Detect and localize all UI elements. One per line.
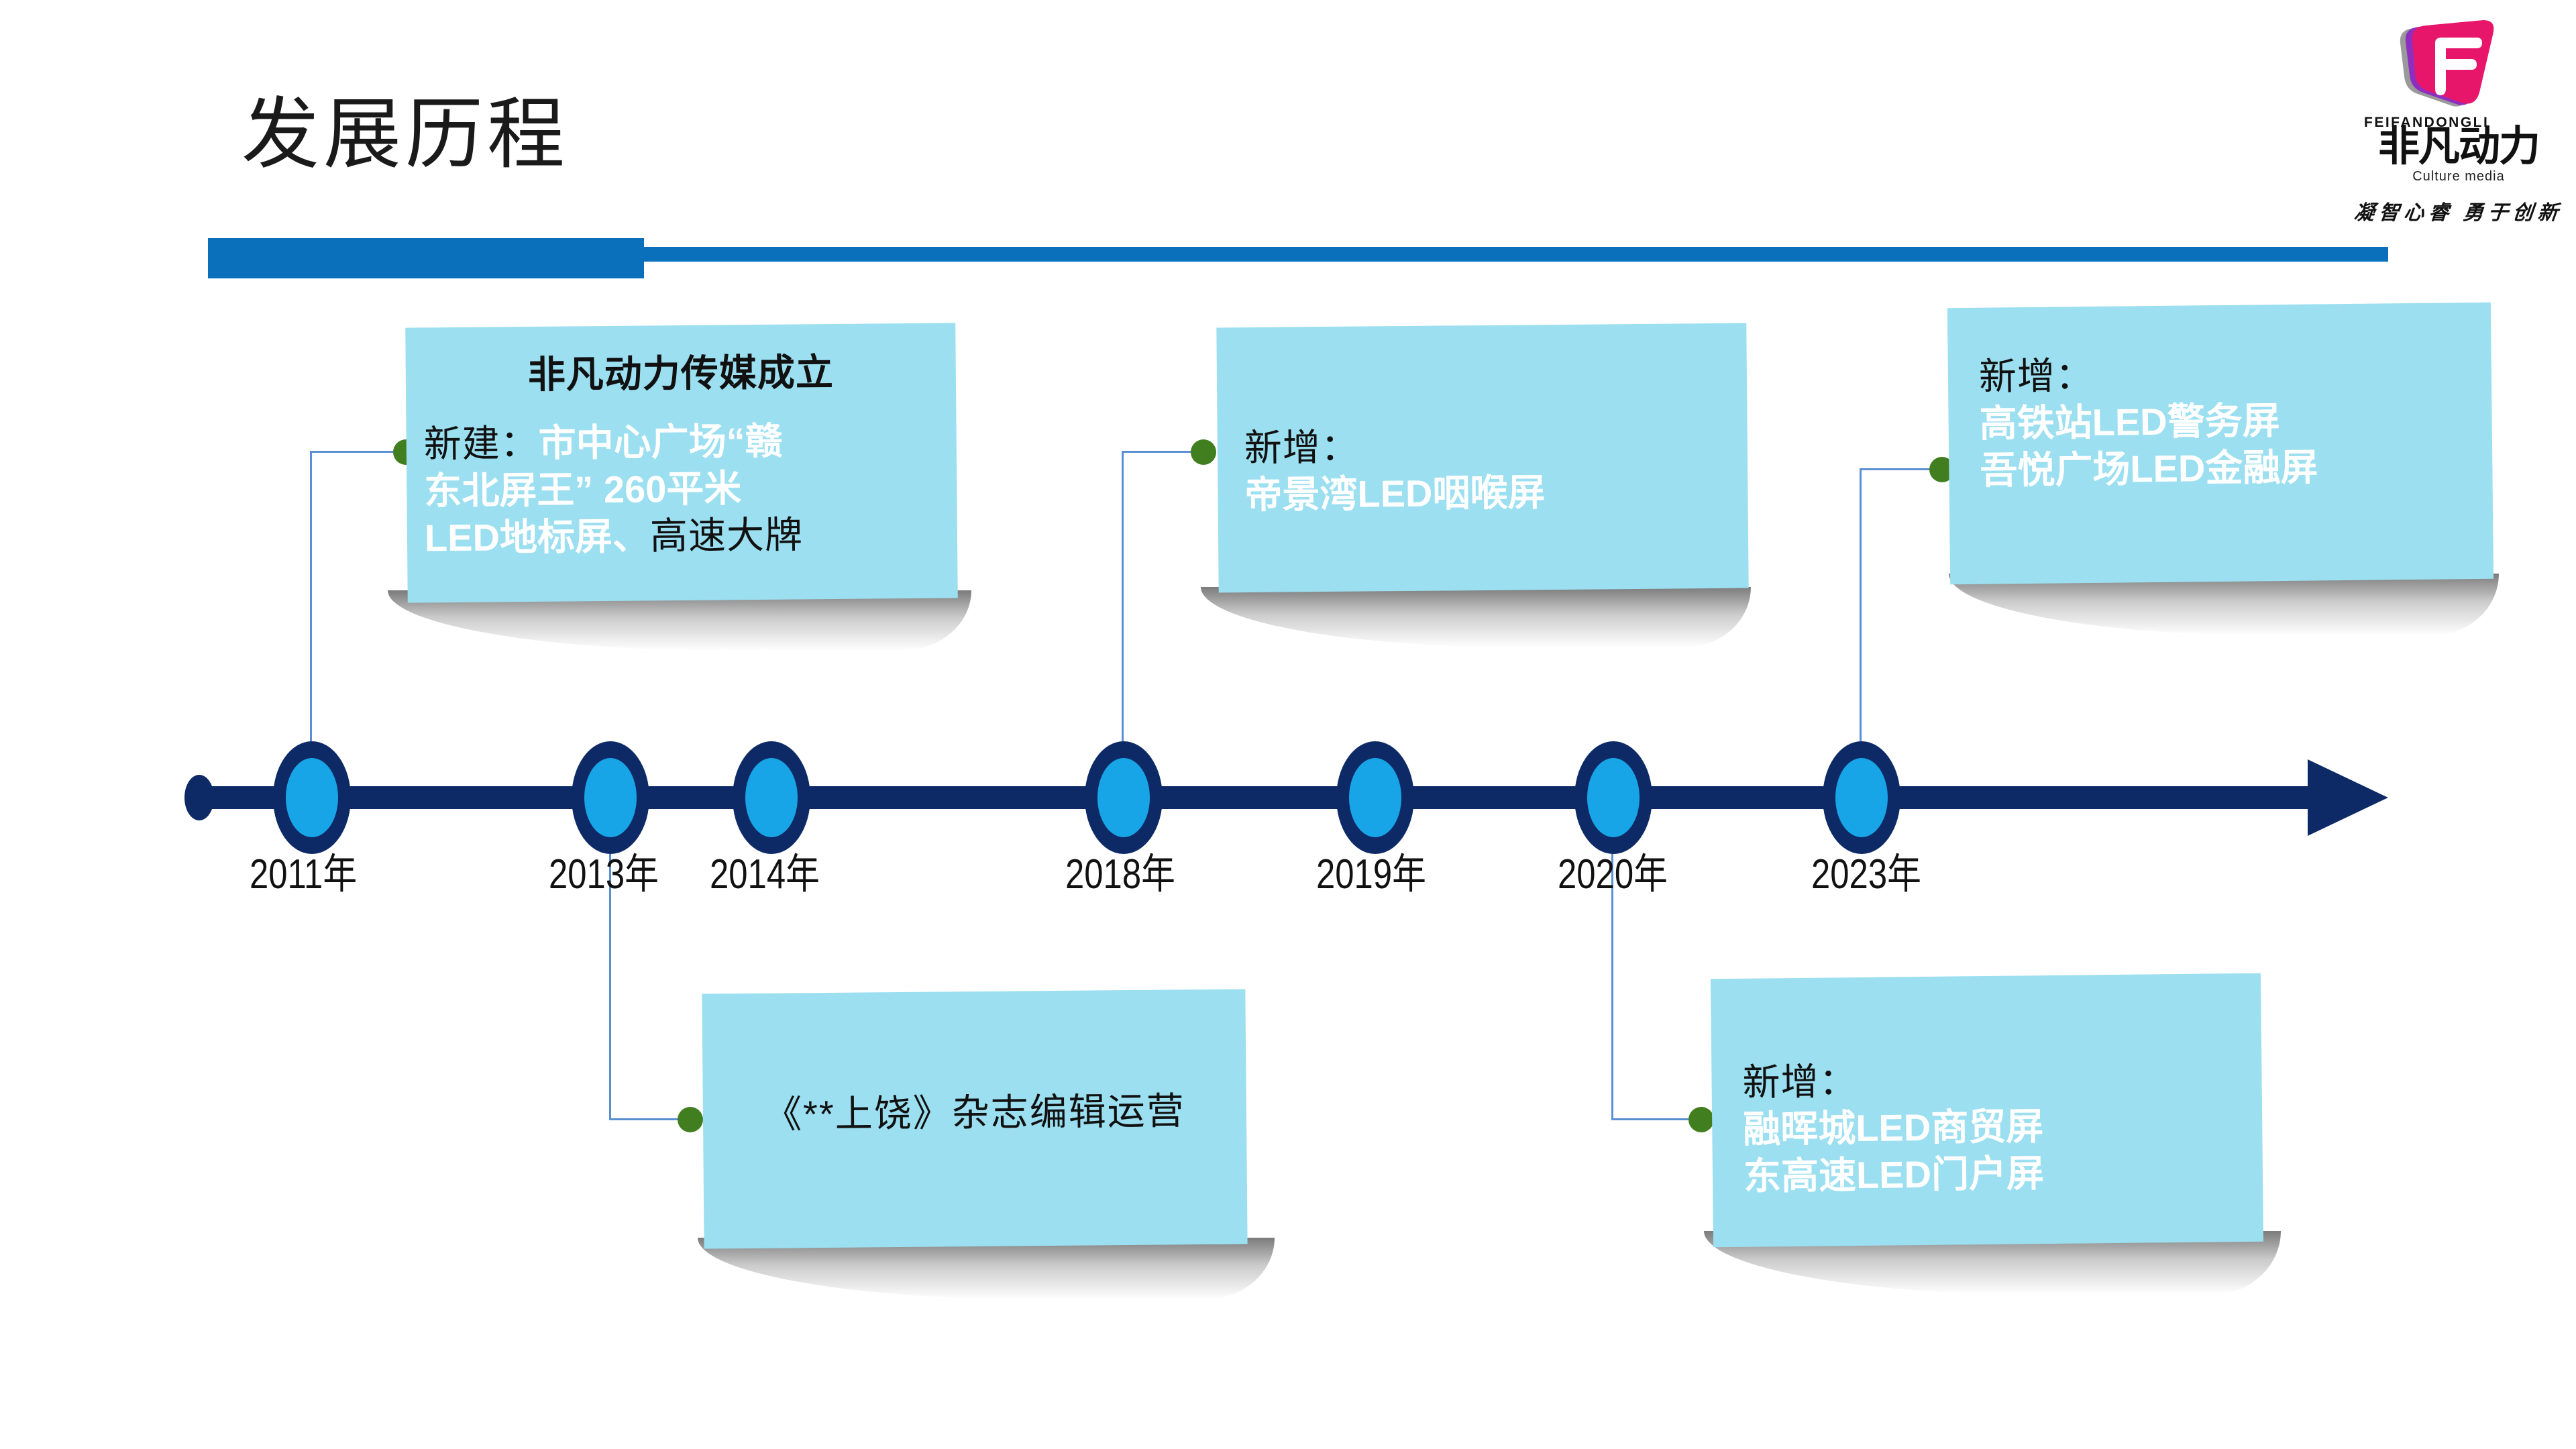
timeline-start-dot bbox=[184, 775, 214, 820]
card-2023-lead: 新增： bbox=[1979, 348, 2461, 400]
card-2020-highlight-1: 融晖城LED商贸屏 bbox=[1743, 1101, 2232, 1153]
card-2020[interactable]: 新增： 融晖城LED商贸屏 东高速LED门户屏 bbox=[1711, 973, 2263, 1248]
card-2018[interactable]: 新增： 帝景湾LED咽喉屏 bbox=[1216, 323, 1748, 593]
timeline-node-2013[interactable] bbox=[572, 741, 649, 854]
timeline-node-2018[interactable] bbox=[1085, 741, 1163, 854]
card-2023-highlight-1: 高铁站LED警务屏 bbox=[1979, 395, 2461, 447]
card-2023[interactable]: 新增： 高铁站LED警务屏 吾悦广场LED金融屏 bbox=[1947, 303, 2493, 584]
card-2011-highlight-3: LED地标屏、 bbox=[425, 515, 651, 559]
card-2013-content: 《**上饶》杂志编辑运营 bbox=[703, 1086, 1247, 1140]
card-2023-content: 新增： 高铁站LED警务屏 吾悦广场LED金融屏 bbox=[1948, 348, 2493, 494]
timeline-arrow-icon bbox=[2308, 759, 2388, 836]
connector-segment-horizontal bbox=[1122, 451, 1202, 453]
card-shadow-2018 bbox=[1201, 587, 1751, 647]
card-2011-title: 非凡动力传媒成立 bbox=[423, 349, 939, 398]
slide-canvas: 发展历程 FEIFANDONGLI 非凡动力 Culture media 凝智心… bbox=[0, 0, 2576, 1449]
timeline-node-2019[interactable] bbox=[1336, 741, 1414, 854]
card-2011-lead: 新建： bbox=[423, 422, 539, 465]
year-label-2020: 2020年 bbox=[1558, 840, 1668, 900]
timeline-node-2011[interactable] bbox=[273, 741, 351, 854]
card-2011-highlight-2: 东北屏王” 260平米 bbox=[424, 467, 742, 512]
logo-chinese-text: 非凡动力 bbox=[2348, 127, 2569, 168]
card-2023-highlight-2: 吾悦广场LED金融屏 bbox=[1980, 442, 2462, 494]
year-label-2011: 2011年 bbox=[250, 840, 357, 900]
connector-dot bbox=[1688, 1107, 1714, 1132]
year-label-2018: 2018年 bbox=[1065, 840, 1175, 900]
card-2011-content: 非凡动力传媒成立 新建：市中心广场“赣 东北屏王” 260平米 LED地标屏、高… bbox=[406, 348, 958, 561]
card-2018-highlight-1: 帝景湾LED咽喉屏 bbox=[1244, 468, 1721, 519]
timeline-node-2014[interactable] bbox=[733, 741, 810, 854]
connector-segment-vertical bbox=[310, 451, 312, 746]
card-2013[interactable]: 《**上饶》杂志编辑运营 bbox=[702, 989, 1247, 1248]
connector-dot bbox=[678, 1107, 703, 1132]
logo-tagline: 凝智心睿 勇于创新 bbox=[2347, 196, 2571, 225]
logo-wordmark: FEIFANDONGLI 非凡动力 Culture media bbox=[2348, 115, 2569, 184]
connector-dot bbox=[1191, 439, 1216, 465]
card-2020-highlight-2: 东高速LED门户屏 bbox=[1743, 1148, 2233, 1200]
title-underline-block bbox=[208, 238, 644, 278]
title-underline-rule bbox=[644, 247, 2388, 262]
year-label-2013: 2013年 bbox=[549, 840, 659, 900]
year-label-2019: 2019年 bbox=[1316, 840, 1426, 900]
card-2013-text: 《**上饶》杂志编辑运营 bbox=[719, 1087, 1231, 1140]
timeline-node-2019b[interactable] bbox=[1574, 741, 1652, 854]
card-2018-content: 新增： 帝景湾LED咽喉屏 bbox=[1218, 421, 1748, 519]
year-label-2023: 2023年 bbox=[1811, 840, 1921, 900]
card-2018-lead: 新增： bbox=[1244, 421, 1721, 472]
card-2020-lead: 新增： bbox=[1742, 1054, 2231, 1106]
card-2011[interactable]: 非凡动力传媒成立 新建：市中心广场“赣 东北屏王” 260平米 LED地标屏、高… bbox=[405, 323, 958, 602]
card-2011-body: 新建：市中心广场“赣 东北屏王” 260平米 LED地标屏、高速大牌 bbox=[423, 417, 940, 562]
page-title: 发展历程 bbox=[241, 94, 569, 176]
company-logo: FEIFANDONGLI 非凡动力 Culture media 凝智心睿 勇于创… bbox=[2348, 20, 2569, 235]
connector-segment-vertical bbox=[1860, 468, 1862, 746]
year-label-2014: 2014年 bbox=[710, 840, 820, 900]
timeline-node-2023[interactable] bbox=[1823, 741, 1900, 854]
card-2020-content: 新增： 融晖城LED商贸屏 东高速LED门户屏 bbox=[1711, 1054, 2263, 1201]
card-2011-plain-tail: 高速大牌 bbox=[650, 514, 804, 557]
card-2011-highlight-1: 市中心广场“赣 bbox=[538, 420, 783, 464]
logo-subtitle-text: Culture media bbox=[2348, 169, 2569, 184]
logo-f-mark-icon bbox=[2388, 20, 2495, 114]
timeline-axis bbox=[201, 786, 2341, 809]
connector-segment-vertical bbox=[1122, 451, 1124, 746]
